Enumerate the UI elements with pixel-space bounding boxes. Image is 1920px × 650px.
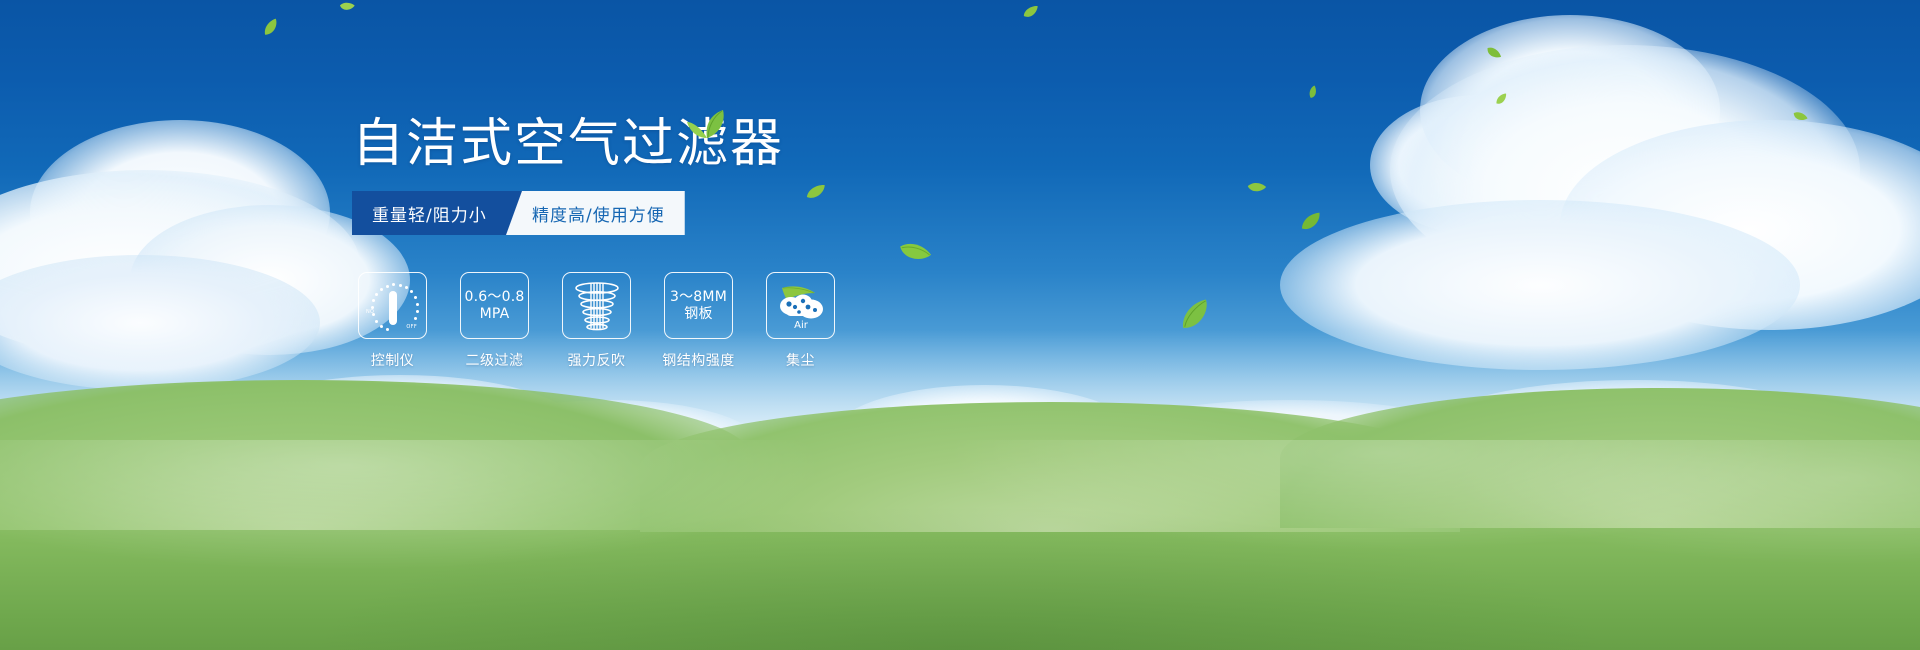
steel-material: 钢板	[670, 306, 727, 323]
steel-thickness: 3～8MM	[670, 289, 727, 306]
gauge-needle	[389, 291, 397, 325]
title-leaf-icon	[686, 96, 730, 148]
feature-icon-row: NO OFF 控制仪 0.6～0.8 MPA 二级过滤	[358, 272, 835, 370]
steel-text: 3～8MM 钢板	[670, 289, 727, 322]
tag-weight-resistance[interactable]: 重量轻/阻力小	[352, 191, 522, 235]
feature-label: 控制仪	[371, 350, 415, 370]
svg-text:Air: Air	[794, 320, 809, 331]
feature-tag-bar: 重量轻/阻力小 精度高/使用方便	[352, 191, 685, 235]
hero-banner: 自洁式空气过滤器 重量轻/阻力小 精度高/使用方便	[0, 0, 1920, 650]
steel-plate-icon: 3～8MM 钢板	[664, 272, 733, 339]
feature-item-dust-collection[interactable]: Air 集尘	[766, 272, 835, 370]
feature-item-controller[interactable]: NO OFF 控制仪	[358, 272, 427, 370]
pressure-range: 0.6～0.8	[465, 289, 525, 306]
tag-precision-convenience[interactable]: 精度高/使用方便	[506, 191, 685, 235]
banner-content: 自洁式空气过滤器 重量轻/阻力小 精度高/使用方便	[0, 0, 1920, 650]
feature-label: 集尘	[786, 350, 815, 370]
feature-item-pulse-blowback[interactable]: 强力反吹	[562, 272, 631, 370]
tag-label: 精度高/使用方便	[532, 201, 665, 226]
feature-label: 二级过滤	[466, 350, 524, 370]
gauge-dial-icon: NO OFF	[358, 272, 427, 339]
pressure-text: 0.6～0.8 MPA	[465, 289, 525, 322]
gauge-min-label: NO	[366, 309, 374, 315]
tag-label: 重量轻/阻力小	[372, 201, 487, 226]
pressure-value-icon: 0.6～0.8 MPA	[460, 272, 529, 339]
air-cloud-icon: Air	[766, 272, 835, 339]
feature-label: 强力反吹	[568, 350, 626, 370]
page-title: 自洁式空气过滤器	[352, 118, 784, 170]
gauge-max-label: OFF	[406, 324, 417, 330]
pressure-unit: MPA	[465, 306, 525, 323]
feature-item-secondary-filter[interactable]: 0.6～0.8 MPA 二级过滤	[460, 272, 529, 370]
filter-stack-icon	[562, 272, 631, 339]
feature-label: 钢结构强度	[662, 350, 735, 370]
feature-item-steel-strength[interactable]: 3～8MM 钢板 钢结构强度	[664, 272, 733, 370]
